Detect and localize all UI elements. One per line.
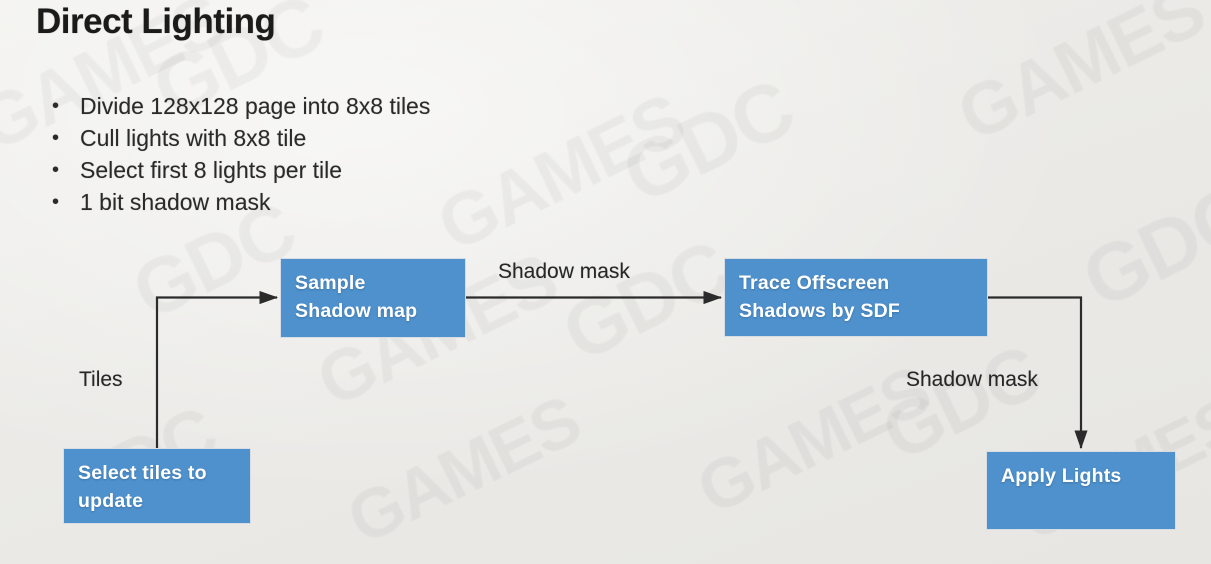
diagram-node-select-tiles[interactable]: Select tiles to update bbox=[63, 448, 251, 524]
slide-canvas: GAMESGDCGAMESGDCGAMESGDCGDCGAMESGDCGAMES… bbox=[0, 0, 1211, 564]
diagram-node-label: Apply Lights bbox=[1001, 462, 1175, 490]
edge-select-tiles-to-sample bbox=[157, 298, 277, 449]
diagram-node-label: Select tiles to update bbox=[78, 459, 250, 515]
diagram-node-apply-lights[interactable]: Apply Lights bbox=[986, 451, 1176, 530]
diagram-node-label: Sample Shadow map bbox=[295, 269, 465, 325]
diagram-node-trace-offscreen-shadows[interactable]: Trace Offscreen Shadows by SDF bbox=[724, 258, 988, 337]
diagram-node-label: Trace Offscreen Shadows by SDF bbox=[739, 269, 987, 325]
slide-content: Direct Lighting •Divide 128x128 page int… bbox=[0, 0, 1211, 564]
diagram-node-sample-shadow-map[interactable]: Sample Shadow map bbox=[280, 258, 466, 338]
edge-label-tiles: Tiles bbox=[79, 368, 123, 392]
edge-label-shadow-mask-right: Shadow mask bbox=[906, 368, 1038, 392]
edge-label-shadow-mask-top: Shadow mask bbox=[498, 260, 630, 284]
pipeline-diagram: Select tiles to update Sample Shadow map… bbox=[0, 0, 1211, 564]
